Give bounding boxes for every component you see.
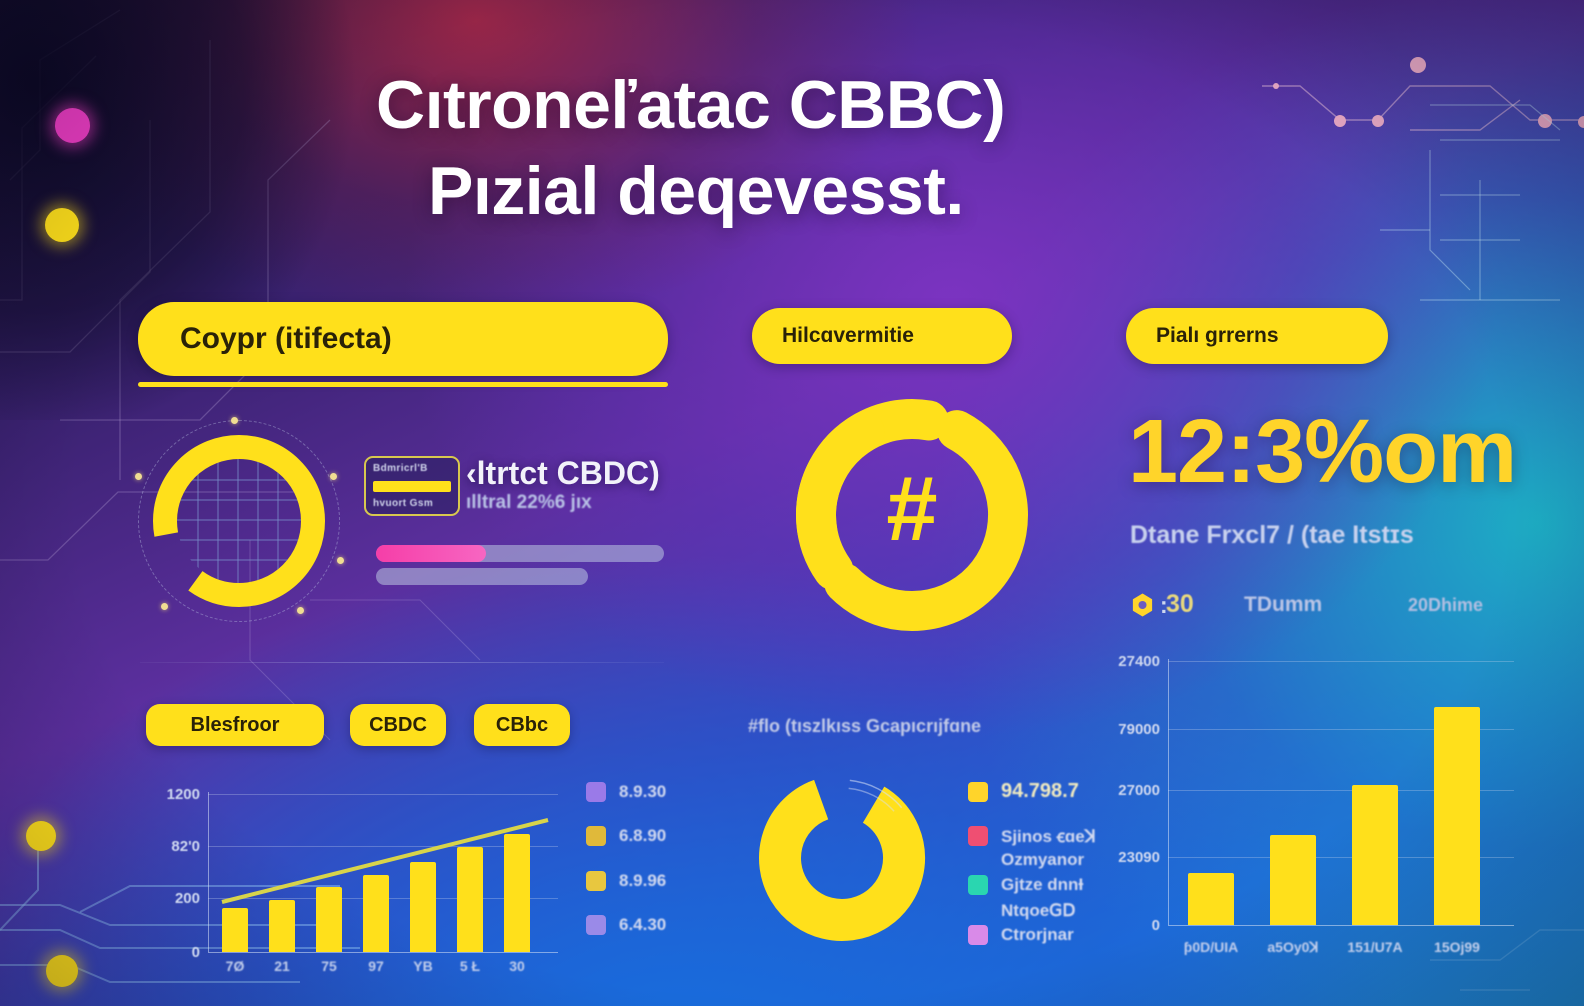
title-line-2: Pızial deqevesst. [428,148,1276,234]
right-chart-bar[interactable] [1270,835,1316,925]
legend-swatch [586,782,606,802]
title-line-1: Cıtroneľatac CBBC) [376,62,1276,148]
right-chart-ytick: 0 [1114,917,1160,934]
right-chart-xtick: a5Oy0ꓘ [1258,939,1328,956]
coin-value: 30 [1166,590,1194,619]
legend-swatch [586,826,606,846]
coin-unit-label: TDumm [1244,593,1322,617]
mini-card-bar [373,481,451,492]
left-chart-legend-item[interactable]: 6.4.30 [586,915,666,935]
left-chart-xtick: 7Ø [215,958,255,974]
big-stat-subtitle: Dtane Frxcl7 / (tae Itstɪs [1130,521,1414,550]
kpi-title: ‹ltrtct CBDC) [466,455,660,492]
left-chart-xtick: 30 [497,958,537,974]
center-panel-caption: #flo (tıszlkıss Gcapıcrıjfɑne [748,716,981,737]
center-donut-legend-item[interactable]: Ntqoeꓖꓓ [1001,901,1075,921]
legend-label: Ntqoeꓖꓓ [1001,901,1075,921]
right-chart-ytick: 27000 [1114,782,1160,799]
legend-swatch [968,875,988,895]
left-chart-xtick: 5 Ł [450,958,490,974]
legend-label: 6.4.30 [619,915,666,935]
center-donut-legend-item[interactable]: 94.798.7 [968,780,1079,803]
center-donut-legend-item[interactable]: Ctrorjnar [968,925,1074,945]
left-chart-legend-item[interactable]: 8.9.96 [586,871,666,891]
tag-cbbc[interactable]: CBbc [474,704,570,746]
decor-dot-yellow-top [45,208,79,242]
tab-right[interactable]: Pialı grrerns [1126,308,1388,364]
mini-card-top-text: Bdmricrl'B [373,463,451,474]
left-chart-xtick: 21 [262,958,302,974]
left-chart-xtick: YB [403,958,443,974]
right-chart-bar[interactable] [1188,873,1234,925]
progress-bar-primary-fill [376,545,486,562]
legend-swatch [586,871,606,891]
coin-right-label: 20Dhime [1408,595,1483,616]
right-chart-bar[interactable] [1434,707,1480,925]
left-donut-gauge [146,428,332,614]
legend-label: 8.9.96 [619,871,666,891]
decor-dot-magenta [55,108,90,143]
tag-blesfroor[interactable]: Blesfroor [146,704,324,746]
hash-icon: # [874,470,950,550]
legend-label: Ctrorjnar [1001,925,1074,945]
tab-middle[interactable]: Hilcɑvermitie [752,308,1012,364]
legend-label: 94.798.7 [1001,780,1079,803]
kpi-subtitle: ılltral 22%6 jıx [466,492,592,514]
legend-label: Ozmyanor [1001,850,1084,870]
left-chart-xtick: 75 [309,958,349,974]
legend-swatch [968,782,988,802]
orbit-node [337,557,344,564]
orbit-node [231,417,238,424]
left-panel-divider [140,662,664,663]
right-chart-bar[interactable] [1352,785,1398,925]
right-chart-ytick: 27400 [1114,653,1160,670]
right-chart-xtick: 15Oj99 [1422,939,1492,955]
legend-swatch [586,915,606,935]
right-chart-x-axis [1168,925,1514,926]
decor-dot-yellow-bottom [46,955,78,987]
tag-cbdc[interactable]: CBDC [350,704,446,746]
right-chart-y-axis [1168,659,1169,925]
left-chart-xtick: 97 [356,958,396,974]
legend-label: 8.9.30 [619,782,666,802]
legend-label: 6.8.90 [619,826,666,846]
left-chart-trend-line [150,782,560,970]
dashboard-canvas: Cıtroneľatac CBBC) Pızial deqevesst. Coy… [0,0,1584,1006]
right-bar-chart: 27400 79000 27000 23090 0 ƥ0D/UIA a5Oy0ꓘ… [1118,645,1518,970]
left-chart-legend-item[interactable]: 8.9.30 [586,782,666,802]
page-title: Cıtroneľatac CBBC) Pızial deqevesst. [376,62,1276,234]
decor-dot-yellow-mid [26,821,56,851]
left-chart-legend-item[interactable]: 6.8.90 [586,826,666,846]
mini-stat-card[interactable]: Bdmricrl'B hvuort Gsm [364,456,460,516]
center-donut-chart[interactable] [752,768,932,948]
right-chart-xtick: ƥ0D/UIA [1176,939,1246,955]
tab-primary-underline [138,382,668,387]
mini-card-bottom-text: hvuort Gsm [373,498,451,509]
legend-swatch [968,925,988,945]
right-chart-ytick: 23090 [1114,849,1160,866]
orbit-node [135,473,142,480]
legend-label: Gjtze dnnƗ [1001,875,1083,895]
right-chart-ytick: 79000 [1114,721,1160,738]
center-donut-legend-item[interactable]: Sjinos ꞓɑeꓘ [968,824,1096,847]
legend-label: Sjinos ꞓɑeꓘ [1001,824,1096,847]
right-chart-gridline [1168,661,1514,662]
center-donut-legend-item[interactable]: Gjtze dnnƗ [968,875,1083,895]
coin-icon [1130,592,1155,618]
legend-swatch [968,826,988,846]
progress-bar-secondary-track[interactable] [376,568,588,585]
big-stat-value: 12:3%om [1128,404,1516,500]
left-bar-chart: 1200 82'0 200 0 7Ø 21 75 97 YB 5 Ł 30 [150,782,560,970]
tab-primary[interactable]: Coypr (itifecta) [138,302,668,376]
right-chart-xtick: 151/U7A [1340,939,1410,955]
center-donut-legend-item[interactable]: Ozmyanor [1001,850,1084,870]
